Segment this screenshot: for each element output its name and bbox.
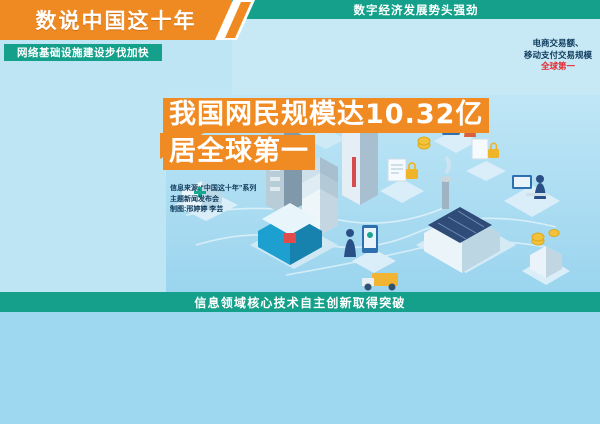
ecommerce-annotation: 电商交易额、 移动支付交易规模 全球第一 bbox=[516, 38, 600, 73]
title-slash-decoration bbox=[215, 0, 255, 40]
network-infra-heading: 网络基础设施建设步伐加快 bbox=[4, 44, 162, 61]
digital-economy-banner: 数字经济发展势头强劲 bbox=[232, 0, 600, 19]
ecommerce-note-line1: 电商交易额、 bbox=[532, 38, 583, 48]
headline-line1: 我国网民规模达10.32亿 bbox=[163, 98, 489, 133]
core-tech-banner: 信息领域核心技术自主创新取得突破 bbox=[0, 292, 600, 312]
source-line3: 制图:邢婷婷 李芸 bbox=[170, 206, 223, 213]
source-line1: 信息来源:“中国这十年”系列 bbox=[170, 185, 256, 192]
ecommerce-note-highlight: 全球第一 bbox=[541, 61, 575, 71]
core-tech-banner-label: 信息领域核心技术自主创新取得突破 bbox=[194, 294, 405, 311]
source-line2: 主题新闻发布会 bbox=[170, 196, 219, 203]
headline-line2: 居全球第一 bbox=[163, 135, 315, 170]
digital-economy-banner-label: 数字经济发展势头强劲 bbox=[354, 2, 479, 18]
bottom-items-area bbox=[0, 312, 600, 424]
headline: 我国网民规模达10.32亿 居全球第一 bbox=[163, 98, 489, 170]
ecommerce-note-line2: 移动支付交易规模 bbox=[524, 50, 592, 60]
infographic-page: 数说中国这十年 数字经济发展势头强劲 我国数字经济规模 11万亿元 2012年 … bbox=[0, 0, 600, 424]
source-attribution: 信息来源:“中国这十年”系列 主题新闻发布会 制图:邢婷婷 李芸 bbox=[170, 184, 256, 216]
page-title: 数说中国这十年 bbox=[36, 5, 197, 35]
left-column-background bbox=[0, 40, 166, 292]
page-title-bar: 数说中国这十年 bbox=[0, 0, 232, 40]
network-infra-heading-label: 网络基础设施建设步伐加快 bbox=[17, 45, 149, 60]
